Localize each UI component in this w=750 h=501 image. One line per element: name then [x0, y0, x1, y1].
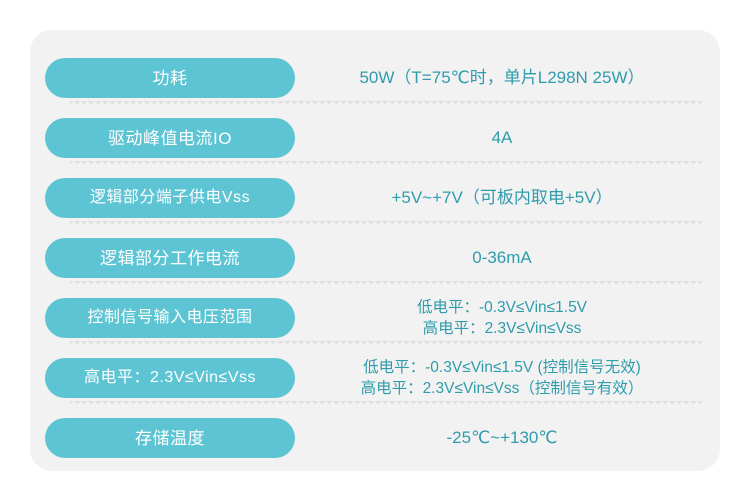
spec-row-label-cell: 驱动峰值电流IO [40, 118, 300, 158]
spec-value-line: 50W（T=75℃时，单片L298N 25W） [359, 67, 644, 89]
row-separator [70, 161, 702, 168]
row-separator [70, 221, 702, 228]
spec-row: 功耗 50W（T=75℃时，单片L298N 25W） [40, 48, 710, 108]
row-separator [70, 401, 702, 408]
spec-row-label-cell: 存储温度 [40, 418, 300, 458]
spec-label-pill-logic-current: 逻辑部分工作电流 [45, 238, 295, 278]
spec-row-label-cell: 逻辑部分工作电流 [40, 238, 300, 278]
spec-label-pill-logic-supply: 逻辑部分端子供电Vss [45, 178, 295, 218]
row-separator [70, 101, 702, 108]
spec-value-line: 低电平：-0.3V≤Vin≤1.5V [417, 297, 587, 318]
spec-label-pill-storage-temperature: 存储温度 [45, 418, 295, 458]
spec-value-line: 0-36mA [472, 247, 532, 269]
spec-value-line: +5V~+7V（可板内取电+5V） [391, 187, 612, 209]
spec-row: 控制信号输入电压范围 低电平：-0.3V≤Vin≤1.5V 高电平：2.3V≤V… [40, 288, 710, 348]
spec-row: 高电平：2.3V≤Vin≤Vss 低电平：-0.3V≤Vin≤1.5V (控制信… [40, 348, 710, 408]
spec-row: 驱动峰值电流IO 4A [40, 108, 710, 168]
spec-row-value-cell: 50W（T=75℃时，单片L298N 25W） [300, 67, 710, 89]
spec-value-line: 高电平：2.3V≤Vin≤Vss（控制信号有效） [361, 378, 644, 399]
spec-row: 逻辑部分工作电流 0-36mA [40, 228, 710, 288]
spec-value-line: -25℃~+130℃ [447, 427, 558, 449]
spec-value-line: 低电平：-0.3V≤Vin≤1.5V (控制信号无效) [363, 357, 641, 378]
specification-card: 功耗 50W（T=75℃时，单片L298N 25W） 驱动峰值电流IO 4A 逻… [30, 30, 720, 471]
spec-row-label-cell: 逻辑部分端子供电Vss [40, 178, 300, 218]
spec-row-label-cell: 控制信号输入电压范围 [40, 298, 300, 338]
spec-value-line: 4A [492, 127, 513, 149]
spec-row-value-cell: 低电平：-0.3V≤Vin≤1.5V (控制信号无效) 高电平：2.3V≤Vin… [300, 357, 710, 399]
spec-row-value-cell: 低电平：-0.3V≤Vin≤1.5V 高电平：2.3V≤Vin≤Vss [300, 297, 710, 339]
spec-row-value-cell: +5V~+7V（可板内取电+5V） [300, 187, 710, 209]
spec-row: 逻辑部分端子供电Vss +5V~+7V（可板内取电+5V） [40, 168, 710, 228]
spec-row-value-cell: 0-36mA [300, 247, 710, 269]
spec-label-pill-peak-current: 驱动峰值电流IO [45, 118, 295, 158]
spec-value-line: 高电平：2.3V≤Vin≤Vss [423, 318, 582, 339]
spec-label-pill-high-level: 高电平：2.3V≤Vin≤Vss [45, 358, 295, 398]
row-separator [70, 341, 702, 348]
spec-row-value-cell: 4A [300, 127, 710, 149]
spec-row-label-cell: 高电平：2.3V≤Vin≤Vss [40, 358, 300, 398]
spec-label-pill-input-voltage-range: 控制信号输入电压范围 [45, 298, 295, 338]
row-separator [70, 281, 702, 288]
spec-row: 存储温度 -25℃~+130℃ [40, 408, 710, 468]
spec-row-value-cell: -25℃~+130℃ [300, 427, 710, 449]
spec-label-pill-power: 功耗 [45, 58, 295, 98]
spec-row-label-cell: 功耗 [40, 58, 300, 98]
